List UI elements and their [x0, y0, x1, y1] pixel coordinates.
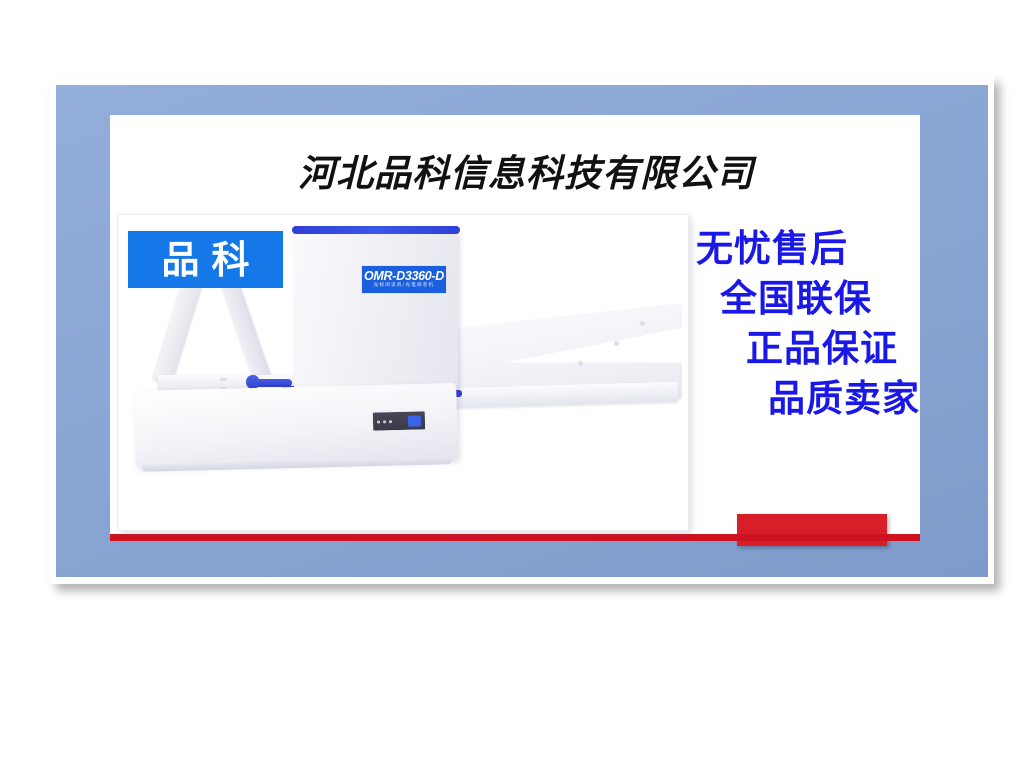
slogan-line-1: 无忧售后 [696, 230, 848, 267]
slogan-group: 无忧售后 全国联保 正品保证 品质卖家 [680, 228, 948, 448]
power-button [408, 415, 421, 426]
tray-rivet-2 [614, 341, 619, 346]
tray-screw-upper [220, 378, 227, 381]
slogan-line-3: 正品保证 [746, 330, 898, 367]
tray-rivet-1 [640, 321, 645, 326]
slogan-line-4: 品质卖家 [768, 380, 920, 417]
red-accent-block [737, 514, 887, 546]
tray-rivet-3 [578, 361, 583, 366]
handle-knob [246, 375, 259, 389]
output-tray-right [454, 303, 682, 415]
brand-logo-text: 品科 [149, 241, 261, 279]
status-indicator-group [377, 419, 408, 423]
model-sublabel: 光标阅读机/光电阅卷机 [374, 284, 435, 289]
status-led-2 [383, 420, 386, 423]
brand-logo-badge: 品科 [128, 231, 283, 288]
model-name-plate: OMR-D3360-D 光标阅读机/光电阅卷机 [362, 266, 446, 293]
blue-top-strip [292, 226, 460, 234]
tray-blade-right [219, 279, 272, 379]
company-title: 河北品科信息科技有限公司 [110, 143, 920, 197]
device-control-panel [372, 410, 426, 431]
red-accent-strip [110, 534, 920, 541]
tray-blade-left [152, 277, 205, 381]
status-led-3 [389, 420, 392, 423]
slogan-line-2: 全国联保 [720, 280, 872, 317]
model-label: OMR-D3360-D [364, 270, 444, 283]
banner-stage: 河北品科信息科技有限公司 [0, 0, 1024, 768]
status-led-1 [377, 420, 380, 423]
scanner-upper-body: OMR-D3360-D 光标阅读机/光电阅卷机 [294, 233, 458, 391]
